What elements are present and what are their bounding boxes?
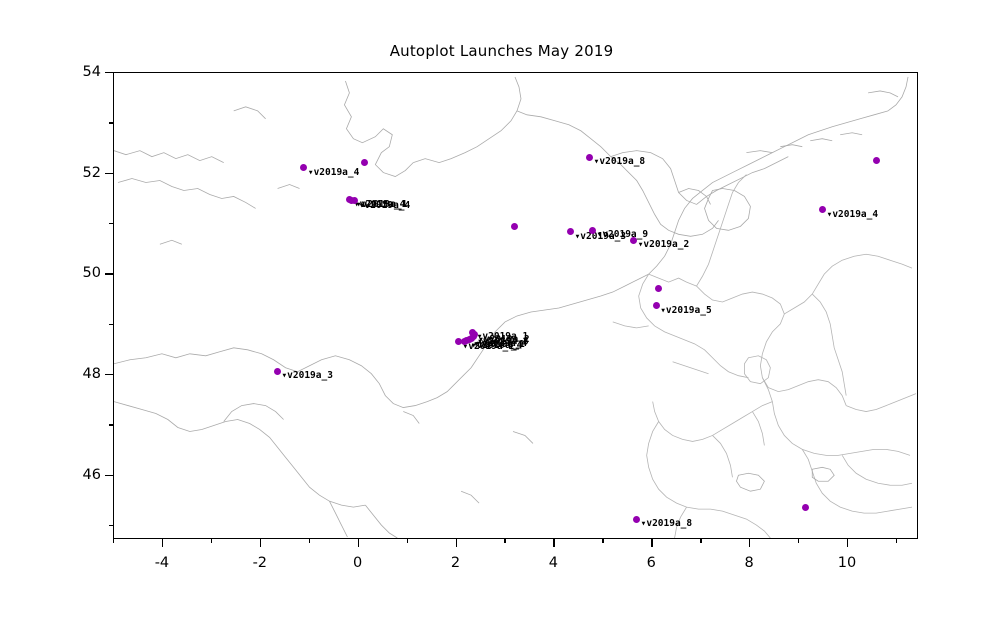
data-point-marker (589, 227, 596, 234)
y-axis-tick (105, 72, 113, 73)
x-axis-tick (162, 539, 163, 547)
x-axis-tick (260, 539, 261, 547)
data-point-marker (274, 368, 281, 375)
x-axis-tick (113, 539, 114, 543)
x-axis-tick-label: 2 (451, 555, 460, 571)
x-axis-tick-label: 6 (647, 555, 656, 571)
y-axis-tick-label: 50 (65, 265, 101, 281)
x-axis-tick-label: -4 (155, 555, 169, 571)
data-point-label: ▾v2019a_5 (660, 305, 711, 316)
page-title: Autoplot Launches May 2019 (0, 42, 1003, 60)
x-axis-tick (407, 539, 408, 543)
x-axis-tick (553, 539, 554, 547)
y-axis-tick (109, 122, 113, 123)
y-axis-tick (105, 173, 113, 174)
y-axis-tick (105, 273, 113, 274)
x-axis-tick-label: -2 (253, 555, 267, 571)
data-point-label: ▾v2019a_3 (281, 370, 332, 381)
x-axis-tick (798, 539, 799, 543)
data-point-marker (630, 237, 637, 244)
chart-canvas: Autoplot Launches May 2019 (0, 0, 1003, 633)
data-point-label: ▾v2019a_8 (641, 518, 692, 529)
data-point-label: ▾v2019a_4 (827, 209, 878, 220)
y-axis-tick (109, 525, 113, 526)
data-point-marker (461, 338, 468, 345)
data-point-marker (802, 504, 809, 511)
data-point-label: ▾v2019a_4 (308, 167, 359, 178)
x-axis-tick (896, 539, 897, 543)
y-axis-tick (109, 424, 113, 425)
y-axis-tick (109, 223, 113, 224)
data-point-label: ▾v2019a_8 (594, 156, 645, 167)
x-axis-tick-label: 4 (549, 555, 558, 571)
y-axis-tick (105, 374, 113, 375)
y-axis-tick-label: 52 (65, 165, 101, 181)
data-point-marker (511, 223, 518, 230)
data-point-marker (873, 157, 880, 164)
data-point-label: ▾v2019a_4 (359, 200, 410, 211)
x-axis-tick (651, 539, 652, 547)
x-axis-tick (358, 539, 359, 547)
coastline-svg (114, 73, 917, 538)
x-axis-tick (456, 539, 457, 547)
x-axis-tick (700, 539, 701, 543)
y-axis-tick-label: 54 (65, 64, 101, 80)
data-point-marker (633, 516, 640, 523)
x-axis-tick-label: 8 (745, 555, 754, 571)
x-axis-tick (211, 539, 212, 543)
x-axis-tick (504, 539, 505, 543)
x-axis-tick (749, 539, 750, 547)
y-axis-tick (105, 475, 113, 476)
basemap-coastlines (114, 73, 917, 538)
y-axis-tick (109, 324, 113, 325)
x-axis-tick-label: 10 (838, 555, 856, 571)
y-axis-tick-label: 48 (65, 366, 101, 382)
data-point-marker (655, 285, 662, 292)
plot-area: ▾v2019a_4▾v2019a_4▾v2019a_1▾v2019a_4▾v20… (113, 72, 918, 539)
data-point-label: ▾v2019a_2 (638, 239, 689, 250)
x-axis-tick (602, 539, 603, 543)
y-axis-tick-label: 46 (65, 467, 101, 483)
x-axis-tick (309, 539, 310, 543)
x-axis-tick (847, 539, 848, 547)
x-axis-tick-label: 0 (353, 555, 362, 571)
data-point-marker (586, 154, 593, 161)
data-point-label: ▾v2019a_1 (463, 341, 514, 352)
